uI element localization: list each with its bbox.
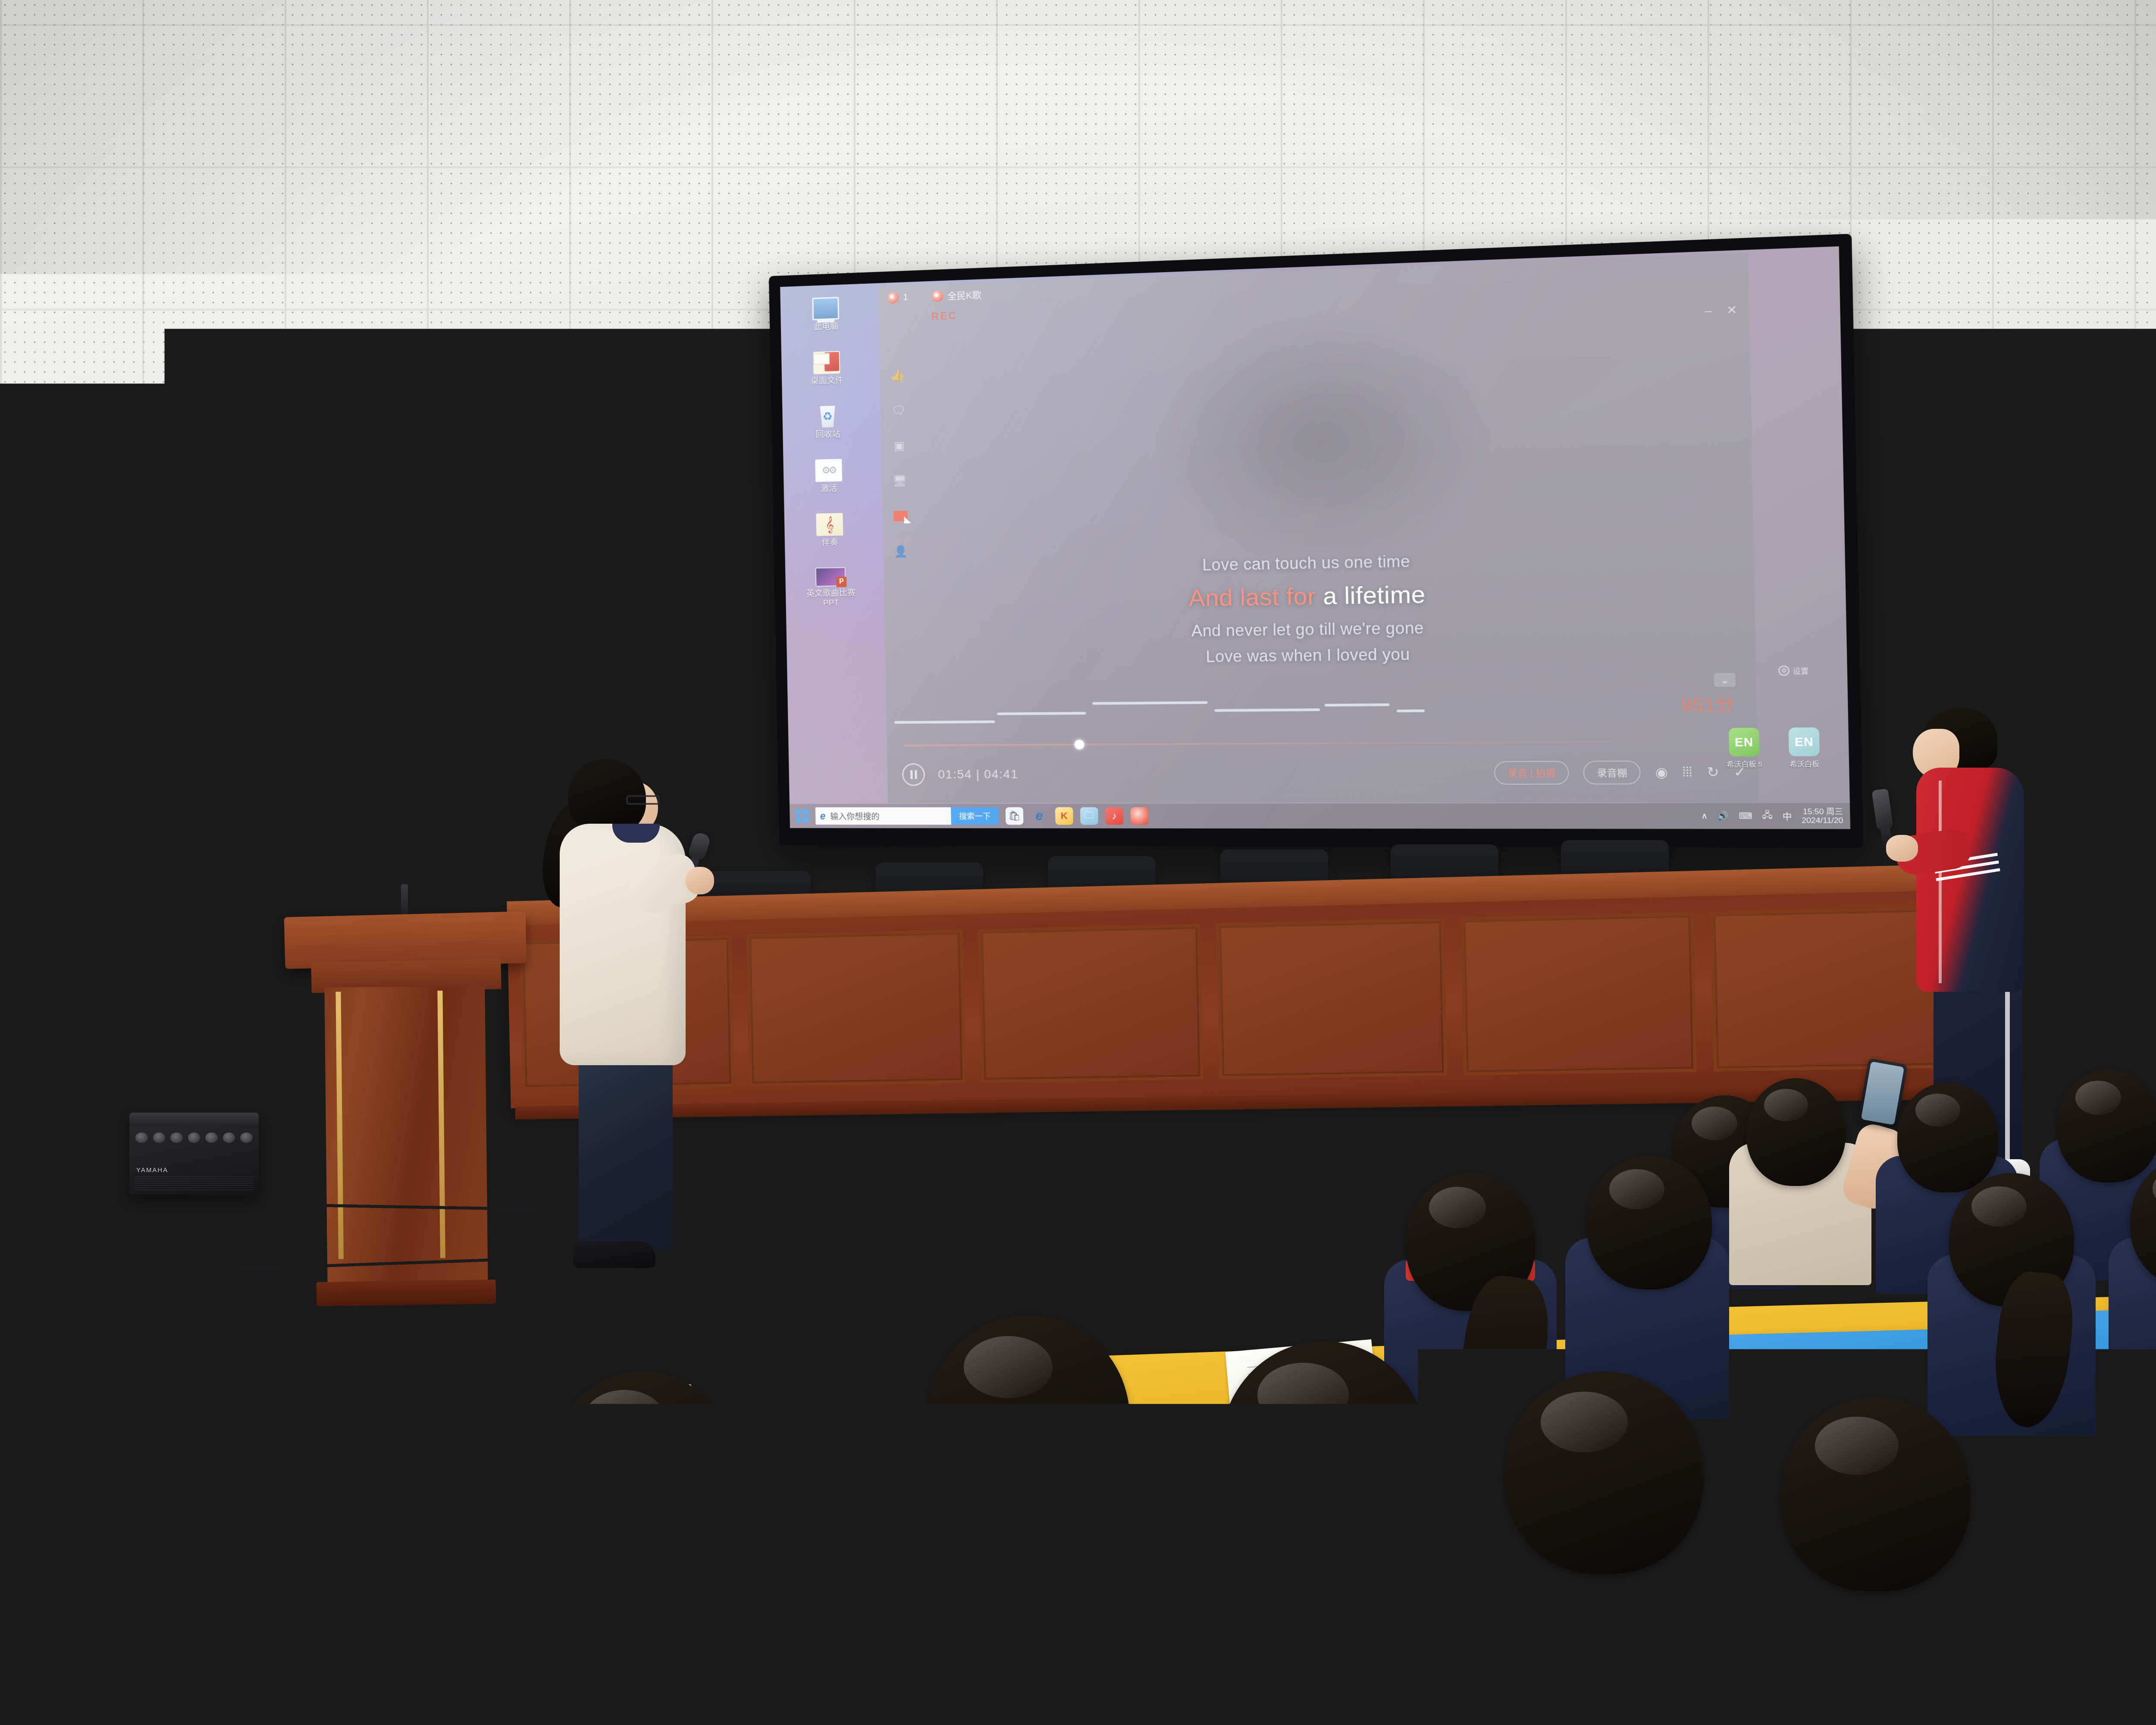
desktop-icon-seewo[interactable]: EN 希沃白板 [1780, 728, 1828, 769]
desktop-icon-label: 希沃白板 [1781, 759, 1828, 769]
desktop-icon-desktop-files[interactable]: 桌面文件 [794, 351, 859, 387]
desktop-icon-column: 此电脑 桌面文件 回收站 激活 伴奏 [793, 295, 877, 628]
volume-icon[interactable]: 🔊 [1717, 810, 1729, 822]
app-tab-secondary[interactable]: 1 [887, 292, 909, 304]
powerpoint-icon [815, 567, 846, 586]
app-tab-primary[interactable]: 全民K歌 [931, 288, 981, 303]
desktop-icon-seewo-5[interactable]: EN 希沃白板 5 [1720, 728, 1768, 769]
desktop-icon-label: 桌面文件 [795, 376, 859, 387]
video-icon[interactable]: ▣ [890, 438, 908, 453]
tray-expand-icon[interactable]: ∧ [1701, 811, 1708, 822]
audience-head [1587, 1156, 1712, 1289]
clock-date: 2024/11/20 [1802, 816, 1843, 825]
desktop-icon-label: 希沃白板 5 [1721, 759, 1768, 769]
window-controls: – ✕ [1705, 303, 1737, 318]
microsoft-store-icon[interactable]: 🛍 [1006, 807, 1024, 825]
this-pc-icon [812, 297, 839, 320]
podium [285, 914, 526, 1302]
app-left-rail: 👍 🗨 ▣ 🖥 👤 [884, 367, 916, 559]
desktop-icon-activate[interactable]: 激活 [796, 458, 861, 494]
app-title-label: 全民K歌 [947, 288, 981, 302]
right-wall-monitor [2113, 893, 2156, 1035]
projection-screen-bezel: 此电脑 桌面文件 回收站 激活 伴奏 [769, 234, 1864, 848]
desk-panel [1460, 912, 1697, 1076]
recording-indicator: REC [931, 310, 958, 323]
transport-bar: 01:54 | 04:41 录音 | 拍摄 录音棚 ◉ ⦙⦙⦙ ↻ ✓ [902, 752, 1746, 793]
activate-icon [815, 459, 842, 482]
student-hand [1886, 835, 1918, 862]
app-tab-label: 1 [903, 292, 908, 303]
netease-music-icon[interactable]: ♪ [1105, 807, 1123, 825]
record-studio-button[interactable]: 录音棚 [1583, 761, 1641, 785]
desktop-icon-accompaniment[interactable]: 伴奏 [797, 513, 862, 549]
audience-head [1505, 1371, 1703, 1574]
desktop-icon-label: 激活 [796, 483, 861, 494]
desktop-icon-label: 回收站 [796, 429, 860, 440]
seewo-badge-icon: EN [1729, 728, 1760, 757]
kugou-music-icon[interactable]: K [1055, 807, 1073, 825]
accompaniment-icon [816, 513, 843, 536]
internet-explorer-icon: e [815, 810, 830, 822]
screen-icon[interactable]: 🖥 [891, 473, 909, 488]
lyric-line-next-1: And never let go till we're gone [885, 614, 1755, 644]
settings-label: 设置 [1792, 665, 1808, 676]
desktop-icon-label: 英文歌曲比赛 PPT [799, 589, 864, 608]
desktop-files-folder-icon [813, 351, 840, 374]
clock[interactable]: 15:50 周三 2024/11/20 [1802, 807, 1843, 825]
time-display: 01:54 | 04:41 [938, 767, 1018, 781]
gear-icon: ⚙ [1778, 665, 1789, 676]
audience-head [2057, 1069, 2156, 1182]
side-monitor[interactable]: ⚙ 设置 EN 2024/11/20 [0, 823, 56, 1204]
system-tray: ∧ 🔊 ⌨ 🖧 中 15:50 周三 2024/11/20 [1701, 807, 1843, 825]
start-button[interactable] [796, 809, 808, 822]
desktop-icon-this-pc[interactable]: 此电脑 [793, 296, 859, 333]
audience-head [1897, 1082, 1999, 1192]
internet-explorer-icon[interactable]: e [1030, 807, 1048, 825]
lyric-unsung-part: a lifetime [1322, 581, 1426, 609]
desktop-icon-label: 此电脑 [794, 321, 859, 333]
lyric-sung-part: And last for [1188, 583, 1323, 612]
desk-panel [1216, 918, 1447, 1079]
minimize-button[interactable]: – [1705, 304, 1712, 318]
desktop-icon-song-contest-ppt[interactable]: 英文歌曲比赛 PPT [798, 567, 864, 608]
desktop-icon-recycle-bin[interactable]: 回收站 [795, 405, 860, 440]
recycle-bin-icon [818, 405, 838, 428]
search-input[interactable]: e 输入你想搜的 搜索一下 [815, 807, 999, 825]
audience-head [552, 1371, 733, 1557]
wesing-logo-icon [887, 292, 899, 304]
yamaha-amplifier: YAMAHA [129, 1113, 259, 1195]
panel-desk [507, 864, 1968, 1108]
podium-body [324, 986, 488, 1289]
mic-tone-icon[interactable]: ◉ [1655, 764, 1668, 780]
monitor-clock: 2024/11/20 [0, 1137, 10, 1142]
seewo-icon-group: EN 希沃白板 5 EN 希沃白板 [1720, 728, 1829, 769]
amplifier-brand-label: YAMAHA [136, 1167, 168, 1174]
comment-icon[interactable]: 🗨 [890, 403, 907, 418]
search-placeholder: 输入你想搜的 [830, 810, 951, 822]
windows-taskbar: e 输入你想搜的 搜索一下 🛍 e K 🗀 ♪ ∧ 🔊 ⌨ 🖧 中 15 [790, 803, 1850, 829]
lyric-line-next-2: Love was when I loved you [885, 641, 1756, 669]
chevron-down-icon[interactable]: ⌄ [1714, 673, 1736, 687]
wesing-logo-icon [931, 290, 943, 302]
teacher-glasses [626, 795, 660, 805]
record-shoot-button[interactable]: 录音 | 拍摄 [1494, 761, 1569, 784]
audience-area [625, 1130, 2156, 1725]
file-explorer-icon[interactable]: 🗀 [1080, 807, 1098, 825]
record-studio-label: 录音棚 [1597, 768, 1627, 779]
network-icon[interactable]: 🖧 [1762, 809, 1773, 823]
seewo-badge-icon: EN [1789, 728, 1820, 756]
projection-screen[interactable]: 此电脑 桌面文件 回收站 激活 伴奏 [780, 246, 1850, 829]
desktop-icon-label: 伴奏 [798, 538, 862, 548]
audience-head [1746, 1078, 1846, 1186]
desk-panel [978, 924, 1203, 1083]
keyboard-icon[interactable]: ⌨ [1739, 811, 1752, 822]
pitch-graph [894, 689, 1698, 730]
thumbs-up-icon[interactable]: 👍 [889, 367, 907, 383]
record-shoot-label: 录音 | 拍摄 [1507, 768, 1556, 779]
ime-indicator[interactable]: 中 [1782, 810, 1792, 822]
wesing-icon[interactable] [1130, 807, 1149, 825]
search-button[interactable]: 搜索一下 [951, 807, 999, 825]
close-button[interactable]: ✕ [1726, 303, 1737, 317]
desk-panel [746, 929, 966, 1086]
wesing-app-window[interactable]: 1 全民K歌 REC – ✕ 👍 🗨 ▣ 🖥 [878, 253, 1758, 803]
audience-head [1781, 1397, 1971, 1591]
settings-float[interactable]: ⚙ 设置 [1778, 665, 1808, 676]
pause-button[interactable] [902, 763, 925, 786]
lyrics-icon[interactable] [892, 508, 909, 524]
lyrics-panel: Love can touch us one time And last for … [884, 538, 1756, 676]
loop-icon[interactable]: ↻ [1707, 764, 1719, 780]
student-tracksuit [1916, 768, 2024, 992]
auditorium-scene: 🏃 此电脑 桌面文件 [0, 0, 2156, 1725]
lyric-line-current: And last for a lifetime [884, 575, 1755, 616]
clock-time: 15:50 周三 [1803, 807, 1843, 816]
podium-microphone [401, 884, 408, 919]
teacher-hand [686, 867, 714, 894]
equalizer-icon[interactable]: ⦙⦙⦙ [1682, 765, 1692, 780]
score-display: 951分 [1681, 690, 1735, 717]
